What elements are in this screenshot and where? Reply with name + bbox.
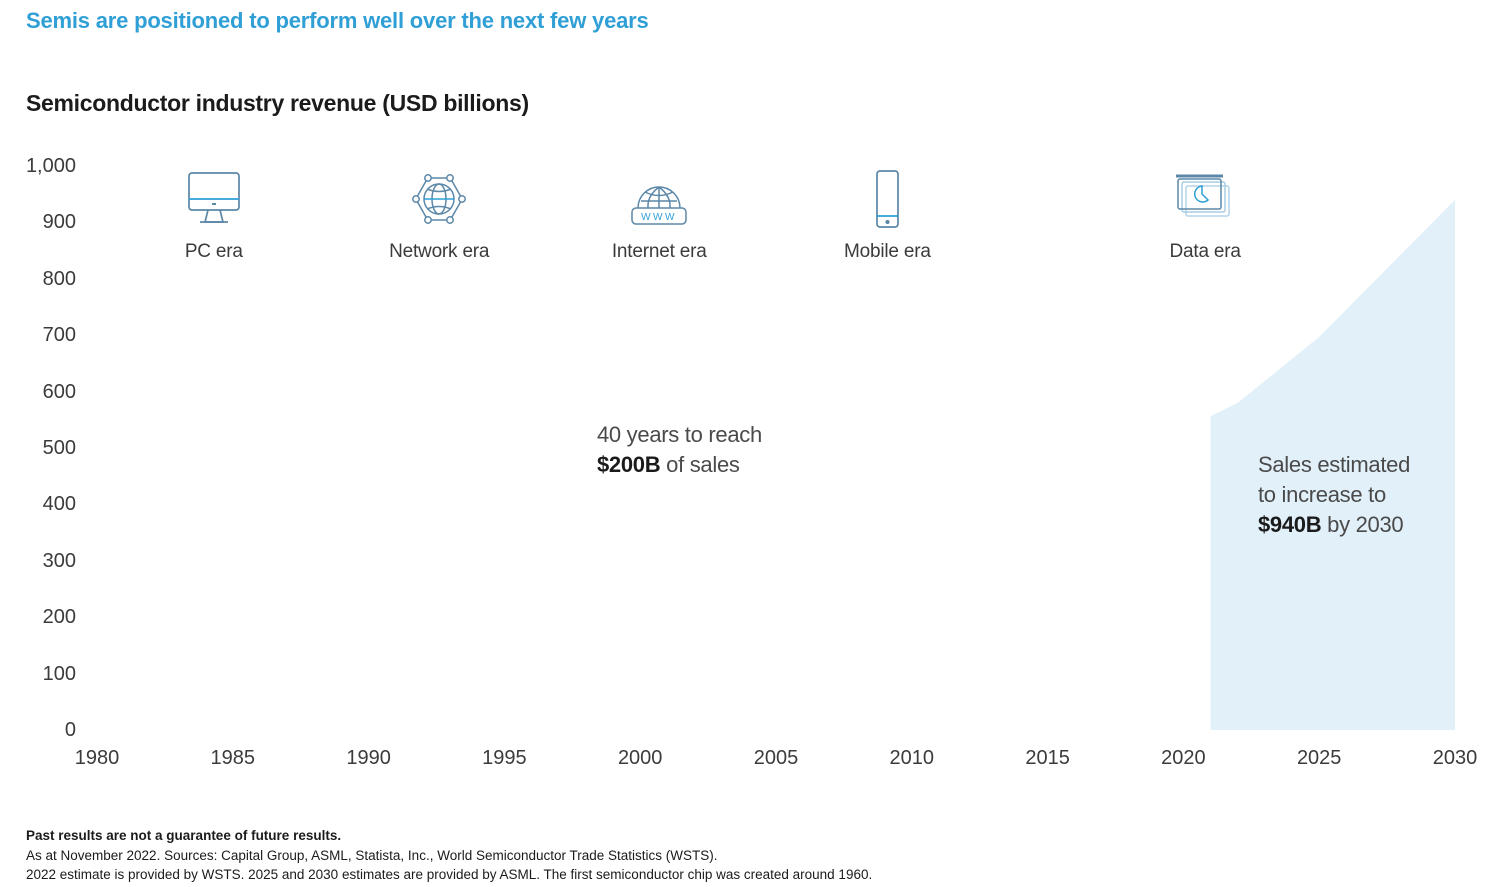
x-tick-1985: 1985: [193, 747, 273, 770]
x-tick-2010: 2010: [872, 747, 952, 770]
era-label: Data era: [1105, 241, 1305, 263]
era-network-era: Network era: [339, 168, 539, 263]
x-tick-2030: 2030: [1415, 747, 1487, 770]
y-tick-0: 0: [0, 719, 76, 742]
y-tick-400: 400: [0, 493, 76, 516]
era-label: Internet era: [559, 241, 759, 263]
annotation-200b-line1: 40 years to reach: [597, 422, 762, 447]
era-mobile-era: Mobile era: [787, 168, 987, 263]
era-data-era: Data era: [1105, 168, 1305, 263]
x-tick-2005: 2005: [736, 747, 816, 770]
svg-text:WWW: WWW: [641, 212, 677, 223]
era-label: PC era: [114, 241, 314, 263]
desktop-monitor-icon: [114, 168, 314, 235]
x-tick-1995: 1995: [464, 747, 544, 770]
x-tick-2020: 2020: [1143, 747, 1223, 770]
footnote-block: Past results are not a guarantee of futu…: [26, 826, 872, 885]
network-globe-icon: [339, 168, 539, 235]
x-tick-1980: 1980: [57, 747, 137, 770]
y-tick-800: 800: [0, 268, 76, 291]
annotation-940b-value: $940B: [1258, 512, 1321, 537]
smartphone-icon: [787, 168, 987, 235]
annotation-940b: Sales estimated to increase to $940B by …: [1258, 450, 1478, 540]
x-tick-1990: 1990: [329, 747, 409, 770]
x-tick-2000: 2000: [600, 747, 680, 770]
y-tick-300: 300: [0, 550, 76, 573]
annotation-200b-line2: of sales: [660, 452, 739, 477]
annotation-940b-line1: Sales estimated: [1258, 452, 1410, 477]
data-slides-pie-icon: [1105, 168, 1305, 235]
www-globe-icon: WWW: [559, 168, 759, 235]
y-tick-700: 700: [0, 324, 76, 347]
x-tick-2015: 2015: [1008, 747, 1088, 770]
y-tick-1000: 1,000: [0, 155, 76, 178]
y-tick-600: 600: [0, 381, 76, 404]
annotation-200b-value: $200B: [597, 452, 660, 477]
era-label: Network era: [339, 241, 539, 263]
annotation-940b-line3: by 2030: [1321, 512, 1403, 537]
annotation-200b: 40 years to reach $200B of sales: [597, 420, 827, 480]
annotation-940b-line2: to increase to: [1258, 482, 1386, 507]
footnote-line-1: Past results are not a guarantee of futu…: [26, 826, 872, 846]
x-tick-2025: 2025: [1279, 747, 1359, 770]
footnote-line-3: 2022 estimate is provided by WSTS. 2025 …: [26, 865, 872, 885]
era-pc-era: PC era: [114, 168, 314, 263]
y-tick-200: 200: [0, 606, 76, 629]
footnote-line-2: As at November 2022. Sources: Capital Gr…: [26, 846, 872, 866]
y-tick-500: 500: [0, 437, 76, 460]
y-tick-100: 100: [0, 663, 76, 686]
era-label: Mobile era: [787, 241, 987, 263]
y-tick-900: 900: [0, 211, 76, 234]
era-internet-era: WWW Internet era: [559, 168, 759, 263]
